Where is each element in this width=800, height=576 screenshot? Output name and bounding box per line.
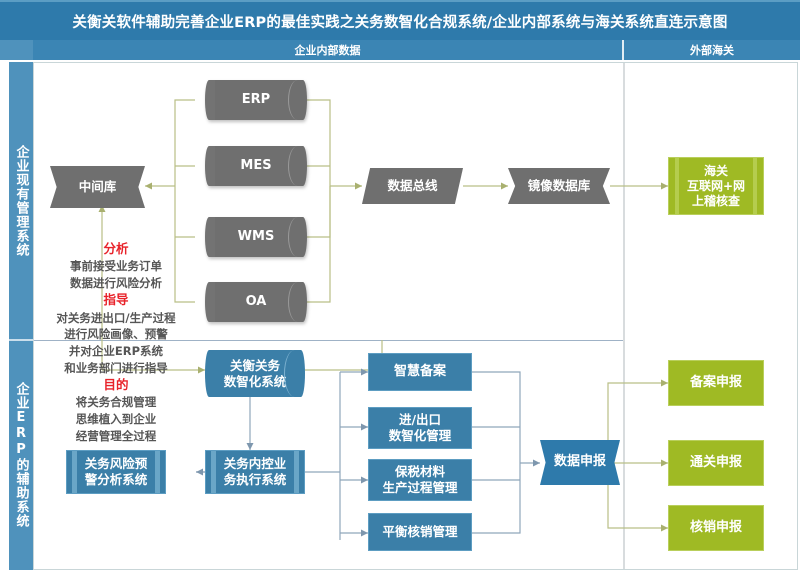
canvas-vertical-divider <box>623 63 625 569</box>
customs-output-writeoff-label: 核销申报 <box>690 520 742 536</box>
diagram-title-bar: 关衡关软件辅助完善企业ERP的最佳实践之关务数智化合规系统/企业内部系统与海关系… <box>0 0 800 40</box>
proc-bar-right <box>155 451 160 493</box>
analysis-line-3-3: 经营管理全过程 <box>36 428 196 445</box>
customs-output-filing-label: 备案申报 <box>690 375 742 391</box>
module-smart-filing[interactable]: 智慧备案 <box>368 353 472 391</box>
customs-output-clearance[interactable]: 通关申报 <box>668 440 764 486</box>
risk-warning-system[interactable]: 关务风险预 警分析系统 <box>66 450 166 494</box>
database-mes[interactable]: MES <box>205 146 307 186</box>
database-mes-label: MES <box>240 158 271 174</box>
customs-output-filing[interactable]: 备案申报 <box>668 360 764 406</box>
analysis-line-1-2: 数据进行风险分析 <box>36 275 196 292</box>
module-balance-writeoff-label: 平衡核销管理 <box>382 524 457 540</box>
section-sidebar: 企业现有管理系统 企业ERP的辅助系统 <box>9 62 33 570</box>
green-bar-right <box>753 158 757 214</box>
module-bonded-material[interactable]: 保税材料 生产过程管理 <box>368 459 472 501</box>
sidebar-section-existing-systems-label: 企业现有管理系统 <box>12 145 31 257</box>
database-erp[interactable]: ERP <box>205 80 307 120</box>
internal-control-system-label: 关务内控业 务执行系统 <box>224 456 287 487</box>
page-title: 关衡关软件辅助完善企业ERP的最佳实践之关务数智化合规系统/企业内部系统与海关系… <box>72 11 727 32</box>
module-bonded-material-label: 保税材料 生产过程管理 <box>382 464 457 495</box>
sidebar-section-erp-assist-label: 企业ERP的辅助系统 <box>12 382 31 528</box>
analysis-heading-2: 指导 <box>36 291 196 309</box>
internal-control-system[interactable]: 关务内控业 务执行系统 <box>205 450 305 494</box>
green-bar-left <box>675 158 679 214</box>
diagram-root: 关衡关软件辅助完善企业ERP的最佳实践之关务数智化合规系统/企业内部系统与海关系… <box>0 0 800 576</box>
proc-bar-right-2 <box>294 451 299 493</box>
sidebar-section-existing-systems: 企业现有管理系统 <box>9 62 33 340</box>
database-oa-label: OA <box>246 294 267 310</box>
data-declaration[interactable]: 数据申报 <box>540 440 620 485</box>
database-oa[interactable]: OA <box>205 282 307 322</box>
analysis-line-1-1: 事前接受业务订单 <box>36 258 196 275</box>
data-declaration-label: 数据申报 <box>554 454 606 470</box>
module-balance-writeoff[interactable]: 平衡核销管理 <box>368 513 472 551</box>
analysis-line-2-1: 对关务进出口/生产过程 <box>36 310 196 327</box>
data-bus-label: 数据总线 <box>387 178 437 194</box>
database-wms[interactable]: WMS <box>205 217 307 257</box>
analysis-line-2-4: 和业务部门进行指导 <box>36 360 196 377</box>
module-import-export[interactable]: 进/出口 数智化管理 <box>368 407 472 449</box>
core-system-label: 关衡关务 数智化系统 <box>224 358 287 389</box>
middle-store[interactable]: 中间库 <box>50 166 145 208</box>
module-import-export-label: 进/出口 数智化管理 <box>389 412 452 443</box>
analysis-heading-1: 分析 <box>36 240 196 258</box>
analysis-line-3-1: 将关务合规管理 <box>36 394 196 411</box>
database-wms-label: WMS <box>238 229 275 245</box>
proc-bar-left <box>72 451 77 493</box>
column-header-external: 外部海关 <box>624 40 800 60</box>
customs-internet-audit-label: 海关 互联网+网 上稽核查 <box>687 164 745 209</box>
database-erp-label: ERP <box>242 92 270 108</box>
risk-warning-system-label: 关务风险预 警分析系统 <box>85 456 148 487</box>
column-header-band: 企业内部数据 外部海关 <box>0 40 800 60</box>
customs-output-clearance-label: 通关申报 <box>690 455 742 471</box>
analysis-heading-3: 目的 <box>36 376 196 394</box>
middle-store-label: 中间库 <box>79 179 117 195</box>
band-left-pad <box>0 40 33 60</box>
sidebar-section-erp-assist: 企业ERP的辅助系统 <box>9 340 33 570</box>
analysis-line-2-3: 并对企业ERP系统 <box>36 343 196 360</box>
mirror-database[interactable]: 镜像数据库 <box>508 168 610 204</box>
mirror-database-label: 镜像数据库 <box>528 178 591 194</box>
customs-output-writeoff[interactable]: 核销申报 <box>668 505 764 551</box>
module-smart-filing-label: 智慧备案 <box>394 364 446 380</box>
customs-internet-audit-box[interactable]: 海关 互联网+网 上稽核查 <box>668 157 764 215</box>
analysis-line-3-2: 思维植入到企业 <box>36 411 196 428</box>
proc-bar-left-2 <box>211 451 216 493</box>
column-header-internal: 企业内部数据 <box>33 40 622 60</box>
analysis-text-block: 分析 事前接受业务订单 数据进行风险分析 指导 对关务进出口/生产过程 进行风险… <box>36 240 196 444</box>
analysis-line-2-2: 进行风险画像、预警 <box>36 326 196 343</box>
data-bus[interactable]: 数据总线 <box>362 168 463 204</box>
core-system[interactable]: 关衡关务 数智化系统 <box>205 350 305 397</box>
